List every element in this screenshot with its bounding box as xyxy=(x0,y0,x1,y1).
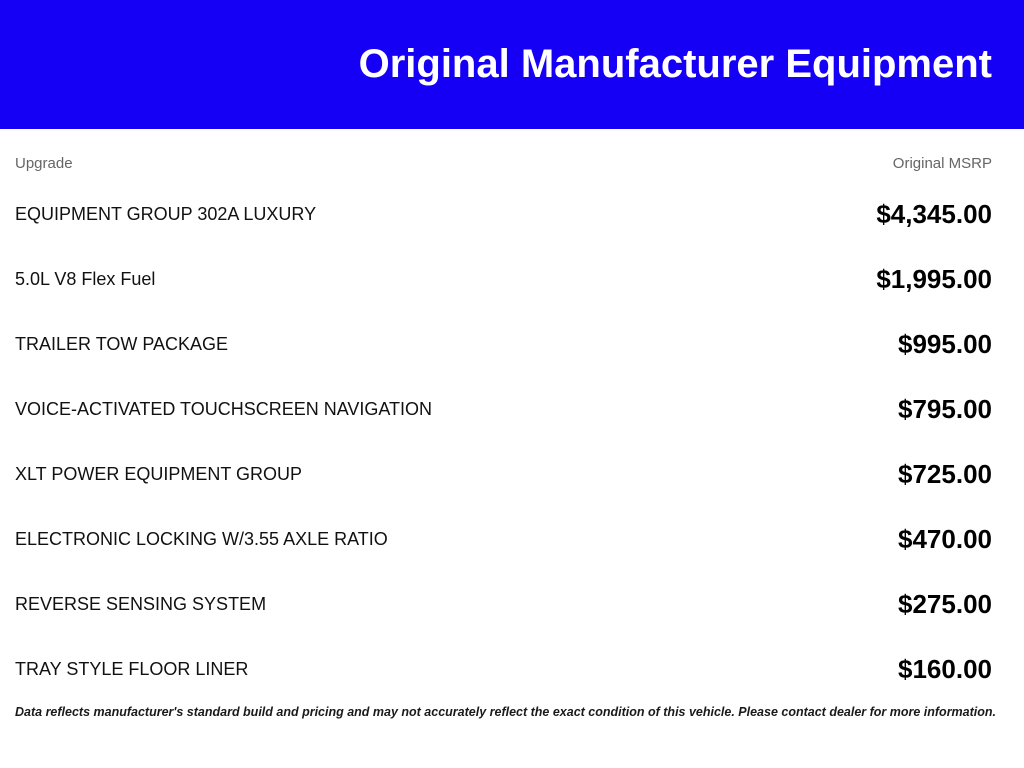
table-row: EQUIPMENT GROUP 302A LUXURY $4,345.00 xyxy=(15,181,992,246)
equipment-price: $275.00 xyxy=(898,590,992,618)
table-row: XLT POWER EQUIPMENT GROUP $725.00 xyxy=(15,441,992,506)
table-row: TRAY STYLE FLOOR LINER $160.00 xyxy=(15,636,992,701)
disclaimer-text: Data reflects manufacturer's standard bu… xyxy=(15,704,1004,720)
column-header-upgrade: Upgrade xyxy=(15,155,73,172)
equipment-name: EQUIPMENT GROUP 302A LUXURY xyxy=(15,203,876,225)
equipment-name: XLT POWER EQUIPMENT GROUP xyxy=(15,463,898,485)
equipment-name: VOICE-ACTIVATED TOUCHSCREEN NAVIGATION xyxy=(15,398,898,420)
table-row: 5.0L V8 Flex Fuel $1,995.00 xyxy=(15,246,992,311)
equipment-price: $725.00 xyxy=(898,460,992,488)
table-row: VOICE-ACTIVATED TOUCHSCREEN NAVIGATION $… xyxy=(15,376,992,441)
table-row: TRAILER TOW PACKAGE $995.00 xyxy=(15,311,992,376)
equipment-price: $4,345.00 xyxy=(876,200,992,228)
table-row: REVERSE SENSING SYSTEM $275.00 xyxy=(15,571,992,636)
equipment-name: TRAILER TOW PACKAGE xyxy=(15,333,898,355)
equipment-name: TRAY STYLE FLOOR LINER xyxy=(15,658,898,680)
equipment-page: Original Manufacturer Equipment Upgrade … xyxy=(0,0,1024,768)
table-row: ELECTRONIC LOCKING W/3.55 AXLE RATIO $47… xyxy=(15,506,992,571)
column-header-original-msrp: Original MSRP xyxy=(893,155,992,172)
table-column-headers: Upgrade Original MSRP xyxy=(15,129,992,181)
page-banner: Original Manufacturer Equipment xyxy=(0,0,1024,129)
equipment-price: $160.00 xyxy=(898,655,992,683)
equipment-price: $470.00 xyxy=(898,525,992,553)
page-title: Original Manufacturer Equipment xyxy=(0,40,992,88)
equipment-name: 5.0L V8 Flex Fuel xyxy=(15,268,876,290)
equipment-price: $1,995.00 xyxy=(876,265,992,293)
equipment-price: $795.00 xyxy=(898,395,992,423)
equipment-name: REVERSE SENSING SYSTEM xyxy=(15,593,898,615)
equipment-table: Upgrade Original MSRP EQUIPMENT GROUP 30… xyxy=(0,129,1024,701)
equipment-name: ELECTRONIC LOCKING W/3.55 AXLE RATIO xyxy=(15,528,898,550)
equipment-price: $995.00 xyxy=(898,330,992,358)
equipment-row-list: EQUIPMENT GROUP 302A LUXURY $4,345.00 5.… xyxy=(15,181,992,701)
